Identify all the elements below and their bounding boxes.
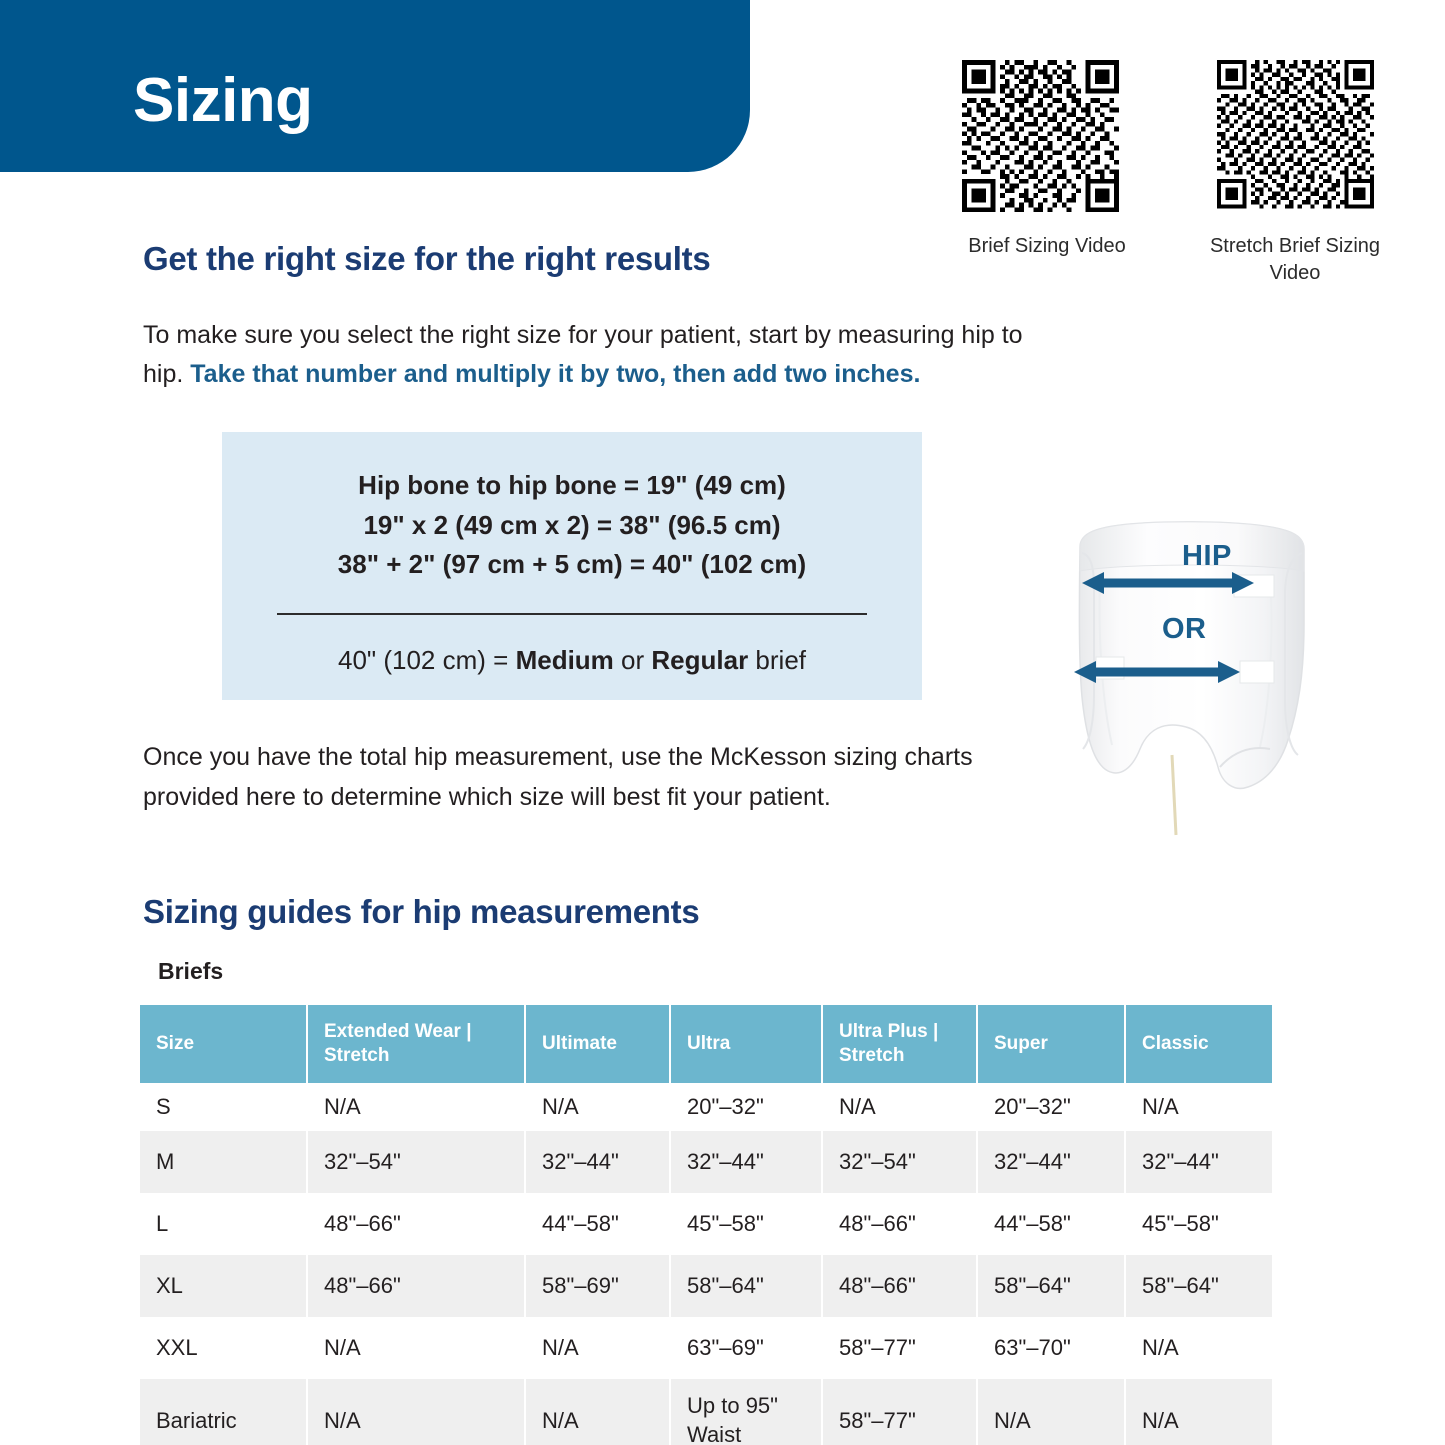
brief-product-illustration: HIP OR [1052, 505, 1342, 845]
table-row: M 32"–54" 32"–44" 32"–44" 32"–54" 32"–44… [140, 1131, 1272, 1193]
column-header-super: Super [977, 1005, 1125, 1083]
cell-ultra-plus-stretch: N/A [822, 1083, 977, 1131]
cell-super: 44"–58" [977, 1193, 1125, 1255]
cell-size: M [140, 1131, 307, 1193]
cell-classic: 45"–58" [1125, 1193, 1272, 1255]
calculation-result-conjunction: or [614, 645, 652, 675]
table-row: Bariatric N/A N/A Up to 95" Waist 58"–77… [140, 1379, 1272, 1445]
cell-ultra: 58"–64" [670, 1255, 822, 1317]
cell-ultimate: N/A [525, 1083, 670, 1131]
column-header-ultra-plus-stretch: Ultra Plus | Stretch [822, 1005, 977, 1083]
cell-extended-wear-stretch: N/A [307, 1083, 525, 1131]
table-row: S N/A N/A 20"–32" N/A 20"–32" N/A [140, 1083, 1272, 1131]
table-label-briefs: Briefs [158, 958, 223, 985]
calculation-result-suffix: brief [748, 645, 806, 675]
cell-classic: 32"–44" [1125, 1131, 1272, 1193]
cell-extended-wear-stretch: N/A [307, 1317, 525, 1379]
briefs-sizing-table: Size Extended Wear | Stretch Ultimate Ul… [140, 1005, 1272, 1445]
section-heading-sizing-guides: Sizing guides for hip measurements [143, 893, 699, 931]
table-row: XL 48"–66" 58"–69" 58"–64" 48"–66" 58"–6… [140, 1255, 1272, 1317]
cell-classic: N/A [1125, 1379, 1272, 1445]
calculation-line: Hip bone to hip bone = 19" (49 cm) [222, 466, 922, 506]
cell-ultimate: 58"–69" [525, 1255, 670, 1317]
calculation-result-prefix: 40" (102 cm) = [338, 645, 516, 675]
intro-paragraph: To make sure you select the right size f… [143, 316, 1043, 394]
hip-arrow-label: HIP [1182, 540, 1232, 573]
calculation-lines: Hip bone to hip bone = 19" (49 cm) 19" x… [222, 432, 922, 585]
cell-size: S [140, 1083, 307, 1131]
page-title: Sizing [133, 70, 313, 132]
column-header-classic: Classic [1125, 1005, 1272, 1083]
cell-super: 63"–70" [977, 1317, 1125, 1379]
cell-size: Bariatric [140, 1379, 307, 1445]
cell-ultra: 20"–32" [670, 1083, 822, 1131]
cell-size: L [140, 1193, 307, 1255]
table-row: XXL N/A N/A 63"–69" 58"–77" 63"–70" N/A [140, 1317, 1272, 1379]
table-head: Size Extended Wear | Stretch Ultimate Ul… [140, 1005, 1272, 1083]
cell-extended-wear-stretch: 32"–54" [307, 1131, 525, 1193]
cell-ultimate: N/A [525, 1317, 670, 1379]
calculation-example-box: Hip bone to hip bone = 19" (49 cm) 19" x… [222, 432, 922, 700]
cell-ultra: 32"–44" [670, 1131, 822, 1193]
cell-classic: 58"–64" [1125, 1255, 1272, 1317]
cell-ultra: 63"–69" [670, 1317, 822, 1379]
cell-classic: N/A [1125, 1317, 1272, 1379]
page-header-banner: Sizing [0, 0, 750, 172]
cell-ultra: Up to 95" Waist [670, 1379, 822, 1445]
cell-size: XL [140, 1255, 307, 1317]
cell-size: XXL [140, 1317, 307, 1379]
column-header-extended-wear-stretch: Extended Wear | Stretch [307, 1005, 525, 1083]
cell-super: 58"–64" [977, 1255, 1125, 1317]
intro-paragraph-emphasis: Take that number and multiply it by two,… [190, 360, 920, 388]
table-body: S N/A N/A 20"–32" N/A 20"–32" N/A M 32"–… [140, 1083, 1272, 1445]
calculation-result-size-2: Regular [651, 645, 748, 675]
table-row: L 48"–66" 44"–58" 45"–58" 48"–66" 44"–58… [140, 1193, 1272, 1255]
cell-extended-wear-stretch: 48"–66" [307, 1193, 525, 1255]
column-header-ultimate: Ultimate [525, 1005, 670, 1083]
cell-extended-wear-stretch: 48"–66" [307, 1255, 525, 1317]
cell-ultimate: 44"–58" [525, 1193, 670, 1255]
calculation-divider [277, 613, 867, 615]
column-header-size: Size [140, 1005, 307, 1083]
qr-code-icon[interactable] [962, 60, 1119, 217]
section-heading-get-right-size: Get the right size for the right results [143, 240, 710, 278]
cell-ultra-plus-stretch: 32"–54" [822, 1131, 977, 1193]
qr-block-brief-sizing-video[interactable]: Brief Sizing Video [962, 60, 1132, 260]
cell-super: 32"–44" [977, 1131, 1125, 1193]
cell-extended-wear-stretch: N/A [307, 1379, 525, 1445]
table-header-row: Size Extended Wear | Stretch Ultimate Ul… [140, 1005, 1272, 1083]
cell-classic: N/A [1125, 1083, 1272, 1131]
after-paragraph: Once you have the total hip measurement,… [143, 738, 1023, 817]
or-arrow-label: OR [1162, 613, 1207, 646]
cell-ultra-plus-stretch: 48"–66" [822, 1255, 977, 1317]
cell-ultimate: N/A [525, 1379, 670, 1445]
sizing-page: Sizing [0, 0, 1445, 1445]
cell-ultra: 45"–58" [670, 1193, 822, 1255]
calculation-result: 40" (102 cm) = Medium or Regular brief [222, 645, 922, 676]
cell-ultra-plus-stretch: 58"–77" [822, 1317, 977, 1379]
column-header-ultra: Ultra [670, 1005, 822, 1083]
qr-caption-stretch-brief-sizing-video: Stretch Brief Sizing Video [1195, 233, 1395, 287]
cell-ultimate: 32"–44" [525, 1131, 670, 1193]
qr-block-stretch-brief-sizing-video[interactable]: Stretch Brief Sizing Video [1210, 60, 1380, 287]
cell-ultra-plus-stretch: 58"–77" [822, 1379, 977, 1445]
cell-super: N/A [977, 1379, 1125, 1445]
cell-super: 20"–32" [977, 1083, 1125, 1131]
qr-caption-brief-sizing-video: Brief Sizing Video [947, 233, 1147, 260]
calculation-line: 38" + 2" (97 cm + 5 cm) = 40" (102 cm) [222, 545, 922, 585]
calculation-line: 19" x 2 (49 cm x 2) = 38" (96.5 cm) [222, 506, 922, 546]
calculation-result-size-1: Medium [516, 645, 614, 675]
qr-code-icon[interactable] [1217, 60, 1374, 217]
cell-ultra-plus-stretch: 48"–66" [822, 1193, 977, 1255]
